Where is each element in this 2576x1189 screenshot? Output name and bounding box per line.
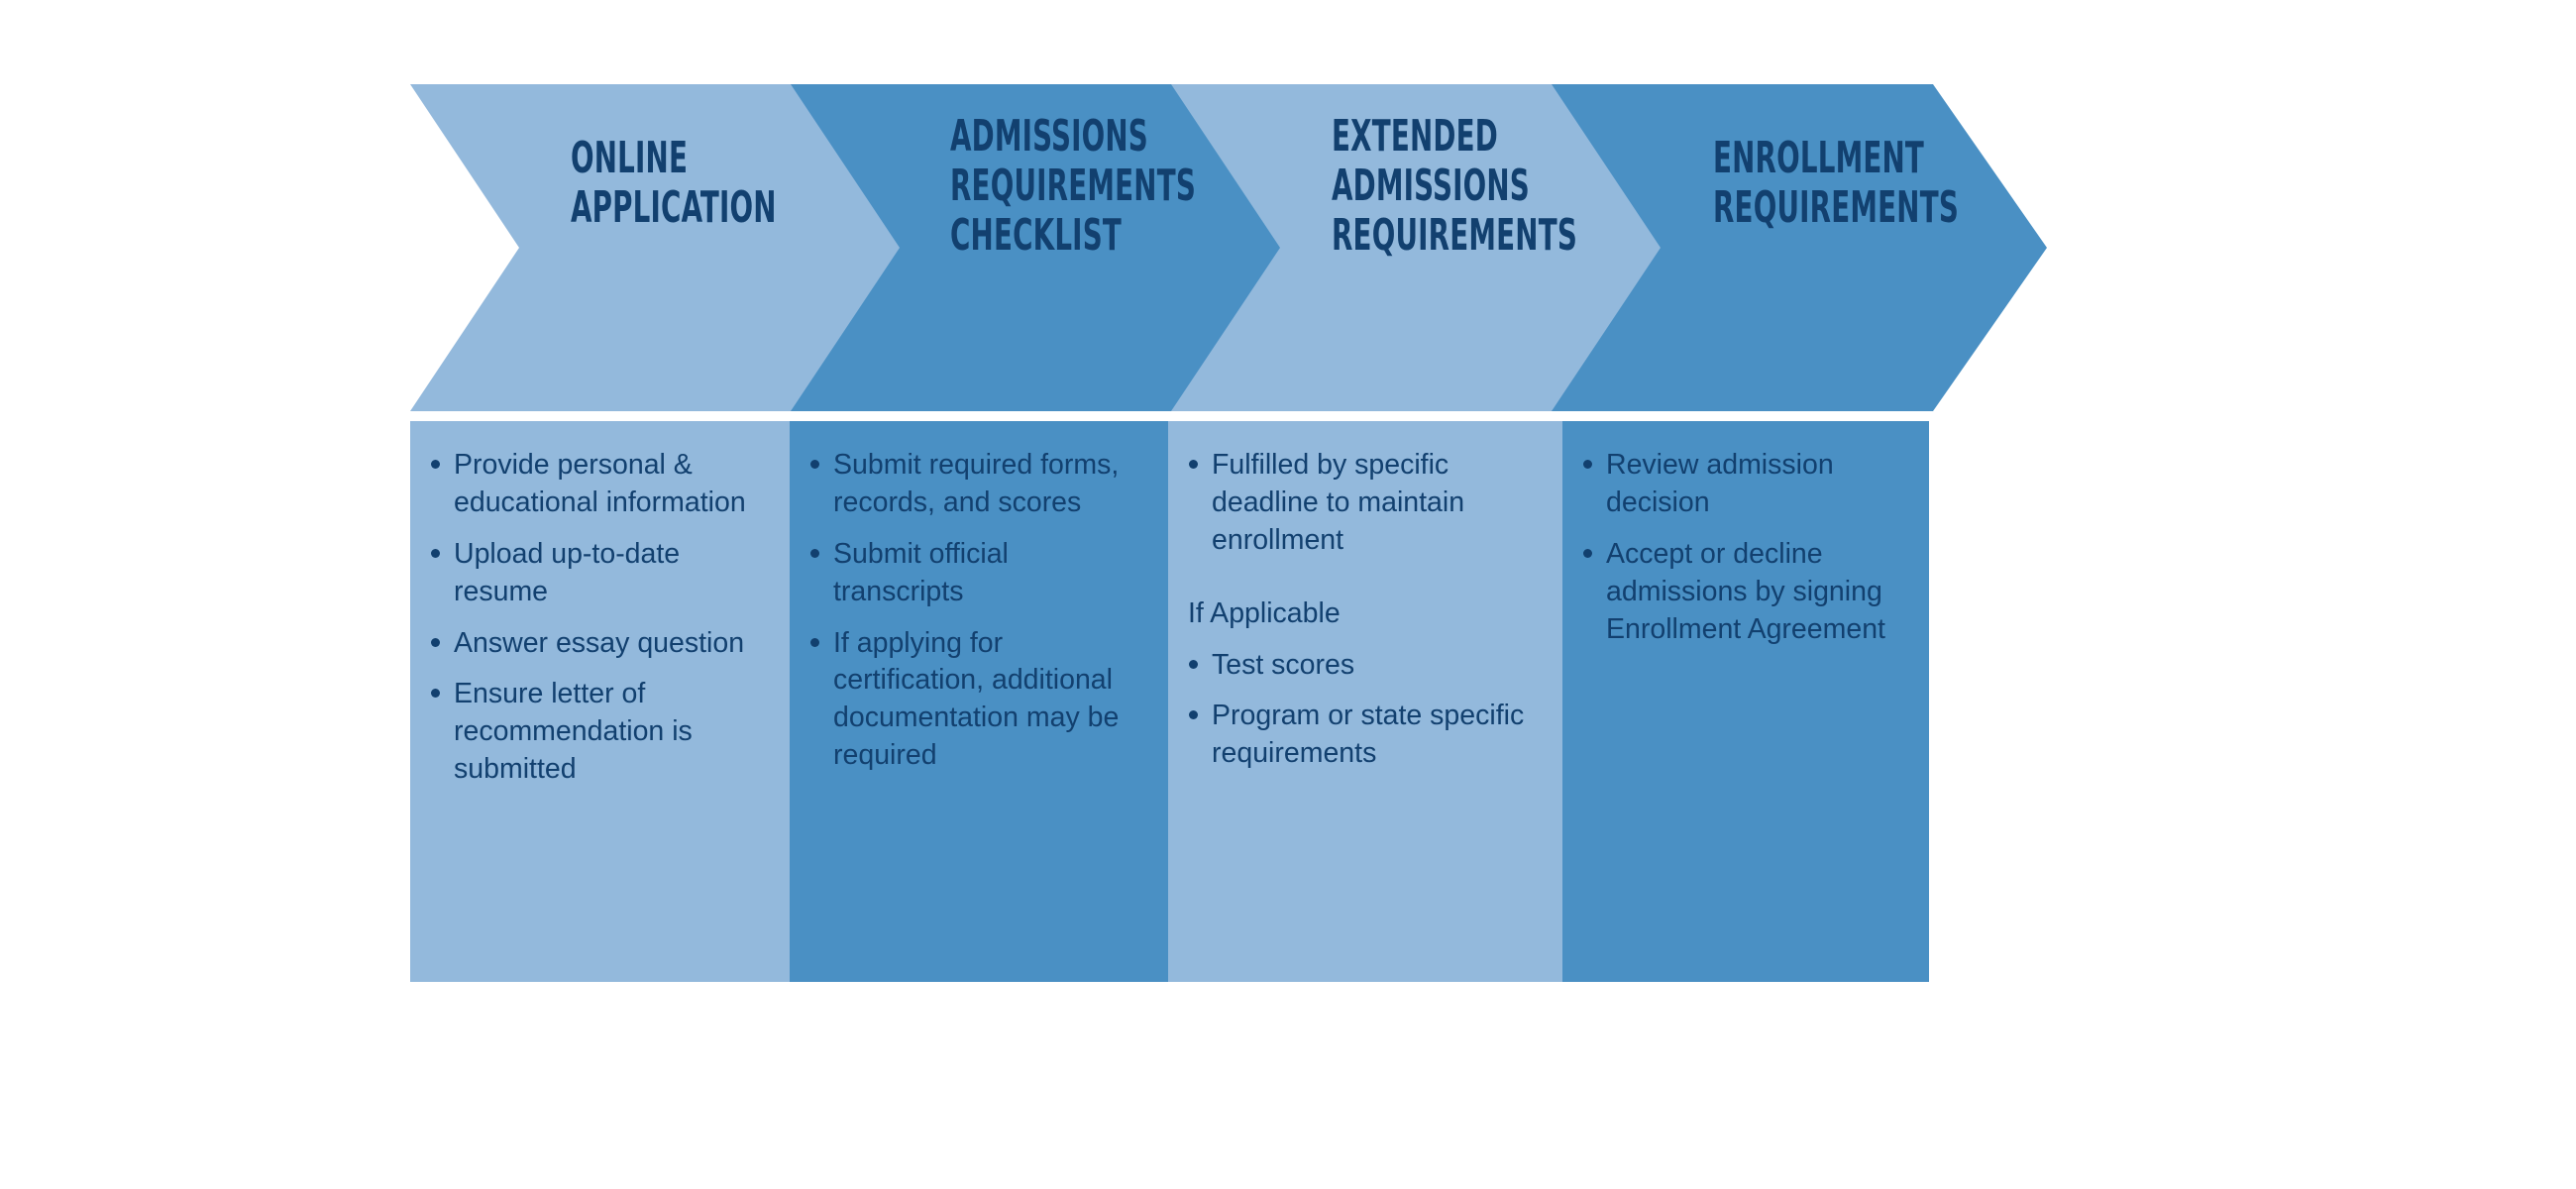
list-item-text: Test scores xyxy=(1212,649,1354,681)
list-item: Accept or decline admissions by signing … xyxy=(1580,536,1903,649)
list-item: Test scores xyxy=(1186,647,1537,685)
list-item: Fulfilled by specific deadline to mainta… xyxy=(1186,447,1537,560)
list-item: Provide personal & educational informati… xyxy=(428,447,764,522)
bullet-dot-icon xyxy=(1189,460,1198,469)
list-item-text: Program or state specific requirements xyxy=(1212,700,1524,769)
list-item-text: Ensure letter of recommendation is submi… xyxy=(454,678,693,785)
list-item-text: If applying for certification, additiona… xyxy=(833,627,1119,772)
bullet-dot-icon xyxy=(1583,549,1592,558)
bullet-dot-icon xyxy=(431,460,440,469)
bullet-list-3-before: Fulfilled by specific deadline to mainta… xyxy=(1186,447,1537,560)
bullet-dot-icon xyxy=(1189,710,1198,719)
list-item: If applying for certification, additiona… xyxy=(807,625,1142,776)
list-item: Review admission decision xyxy=(1580,447,1903,522)
bullet-dot-icon xyxy=(810,460,819,469)
list-item-text: Accept or decline admissions by signing … xyxy=(1606,538,1885,645)
list-item-text: Submit required forms, records, and scor… xyxy=(833,449,1119,518)
list-item: Upload up-to-date resume xyxy=(428,536,764,611)
bullet-dot-icon xyxy=(810,638,819,647)
list-item-text: Review admission decision xyxy=(1606,449,1834,518)
content-panel-admissions-requirements-checklist: Submit required forms, records, and scor… xyxy=(790,421,1168,982)
list-item: Submit required forms, records, and scor… xyxy=(807,447,1142,522)
list-item-text: Upload up-to-date resume xyxy=(454,538,680,607)
content-panel-online-application: Provide personal & educational informati… xyxy=(410,421,790,982)
list-item-text: Answer essay question xyxy=(454,627,744,659)
content-panel-row: Provide personal & educational informati… xyxy=(410,421,1929,982)
list-item: Submit official transcripts xyxy=(807,536,1142,611)
bullet-list-3-after: Test scores Program or state specific re… xyxy=(1186,647,1537,774)
chevron-arrow-row: ONLINE APPLICATION ADMISSIONS REQUIREMEN… xyxy=(410,84,2047,411)
bullet-list-2: Submit required forms, records, and scor… xyxy=(807,447,1142,775)
content-panel-extended-admissions-requirements: Fulfilled by specific deadline to mainta… xyxy=(1168,421,1562,982)
list-item-text: Fulfilled by specific deadline to mainta… xyxy=(1212,449,1464,556)
list-item-text: Provide personal & educational informati… xyxy=(454,449,746,518)
bullet-list-1: Provide personal & educational informati… xyxy=(428,447,764,789)
bullet-list-4: Review admission decision Accept or decl… xyxy=(1580,447,1903,648)
bullet-dot-icon xyxy=(1583,460,1592,469)
list-item-text: Submit official transcripts xyxy=(833,538,1009,607)
sub-heading-if-applicable: If Applicable xyxy=(1186,595,1537,633)
list-item: Answer essay question xyxy=(428,625,764,663)
list-item: Program or state specific requirements xyxy=(1186,698,1537,773)
bullet-dot-icon xyxy=(431,549,440,558)
content-panel-enrollment-requirements: Review admission decision Accept or decl… xyxy=(1562,421,1929,982)
bullet-dot-icon xyxy=(431,638,440,647)
bullet-dot-icon xyxy=(431,689,440,698)
list-item: Ensure letter of recommendation is submi… xyxy=(428,676,764,789)
bullet-dot-icon xyxy=(1189,660,1198,669)
chevron-shapes xyxy=(410,84,2047,411)
admissions-process-diagram: ONLINE APPLICATION ADMISSIONS REQUIREMEN… xyxy=(0,0,2576,1189)
bullet-dot-icon xyxy=(810,549,819,558)
